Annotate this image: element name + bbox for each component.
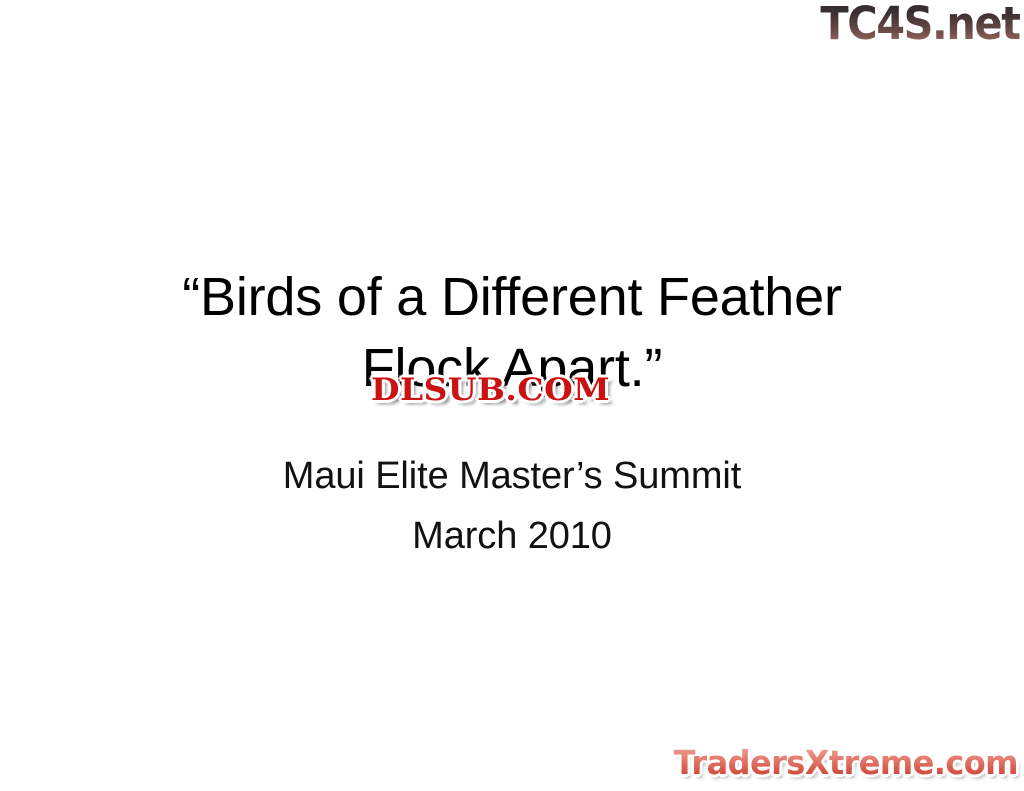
watermark-dlsub: DLSUB.COM [371,371,610,409]
watermark-tc4s: TC4S.net [821,0,1020,50]
subtitle-block: Maui Elite Master’s Summit March 2010 [162,446,862,566]
subtitle-date: March 2010 [162,506,862,566]
watermark-tradersxtreme: TradersXtreme.com TradersXtreme.com [674,743,1018,783]
presentation-slide: “Birds of a Different Feather Flock Apar… [0,0,1024,791]
subtitle-event-name: Maui Elite Master’s Summit [162,446,862,506]
watermark-tradersxtreme-fill: TradersXtreme.com [674,743,1018,782]
